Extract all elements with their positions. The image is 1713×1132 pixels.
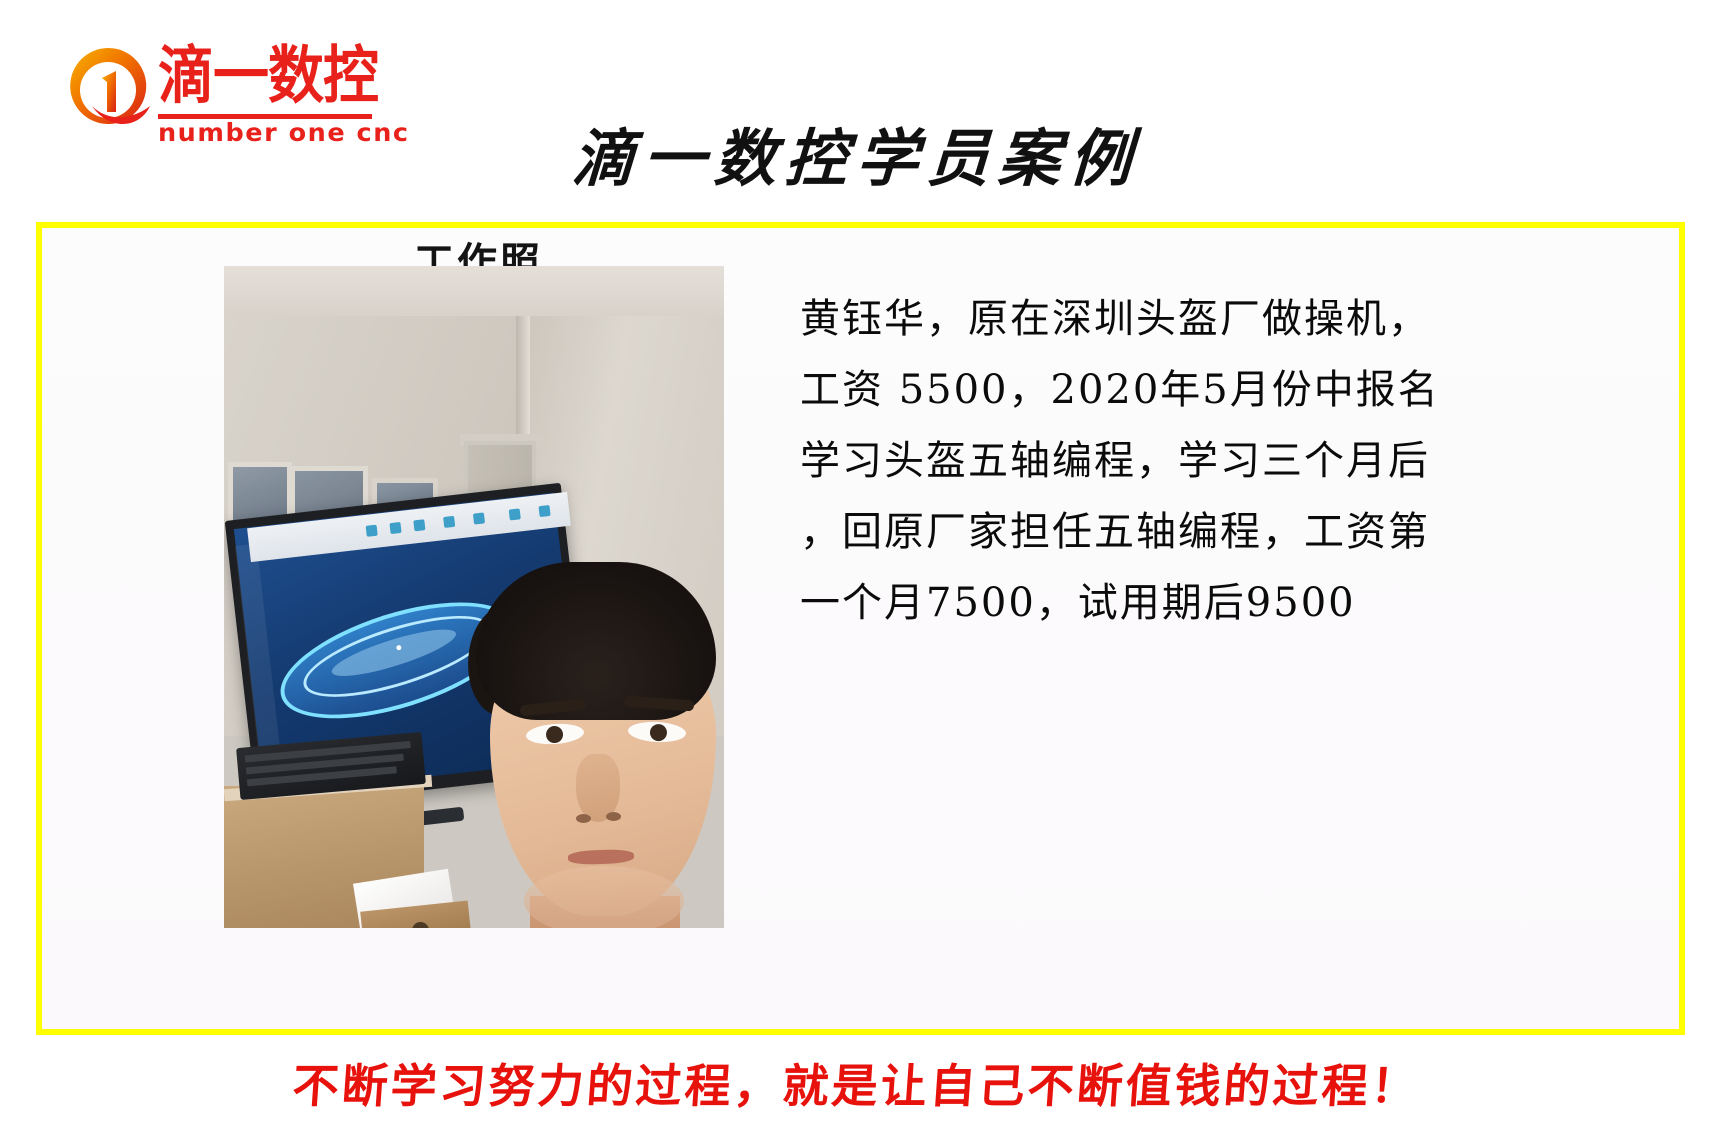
photo-person-nostril-right bbox=[606, 812, 621, 821]
case-line: 学习头盔五轴编程，学习三个月后 bbox=[800, 426, 1645, 497]
page-title: 滴一数控学员案例 bbox=[0, 108, 1713, 198]
student-work-photo bbox=[224, 266, 724, 928]
case-line: 黄钰华，原在深圳头盔厂做操机， bbox=[800, 284, 1645, 355]
photo-ceiling bbox=[224, 266, 724, 316]
photo-person-nostril-left bbox=[576, 814, 591, 823]
logo-text-chinese: 滴一数控 bbox=[158, 42, 378, 111]
case-line: 工资 5500，2020年5月份中报名 bbox=[800, 355, 1645, 426]
case-line: 一个月7500，试用期后9500 bbox=[800, 568, 1645, 639]
photo-person-hair bbox=[476, 562, 716, 720]
footer-slogan: 不断学习努力的过程，就是让自己不断值钱的过程！ bbox=[0, 1050, 1713, 1116]
photo-person-chin bbox=[524, 866, 684, 928]
case-line: ，回原厂家担任五轴编程，工资第 bbox=[800, 497, 1645, 568]
case-description: 黄钰华，原在深圳头盔厂做操机， 工资 5500，2020年5月份中报名 学习头盔… bbox=[800, 284, 1645, 639]
